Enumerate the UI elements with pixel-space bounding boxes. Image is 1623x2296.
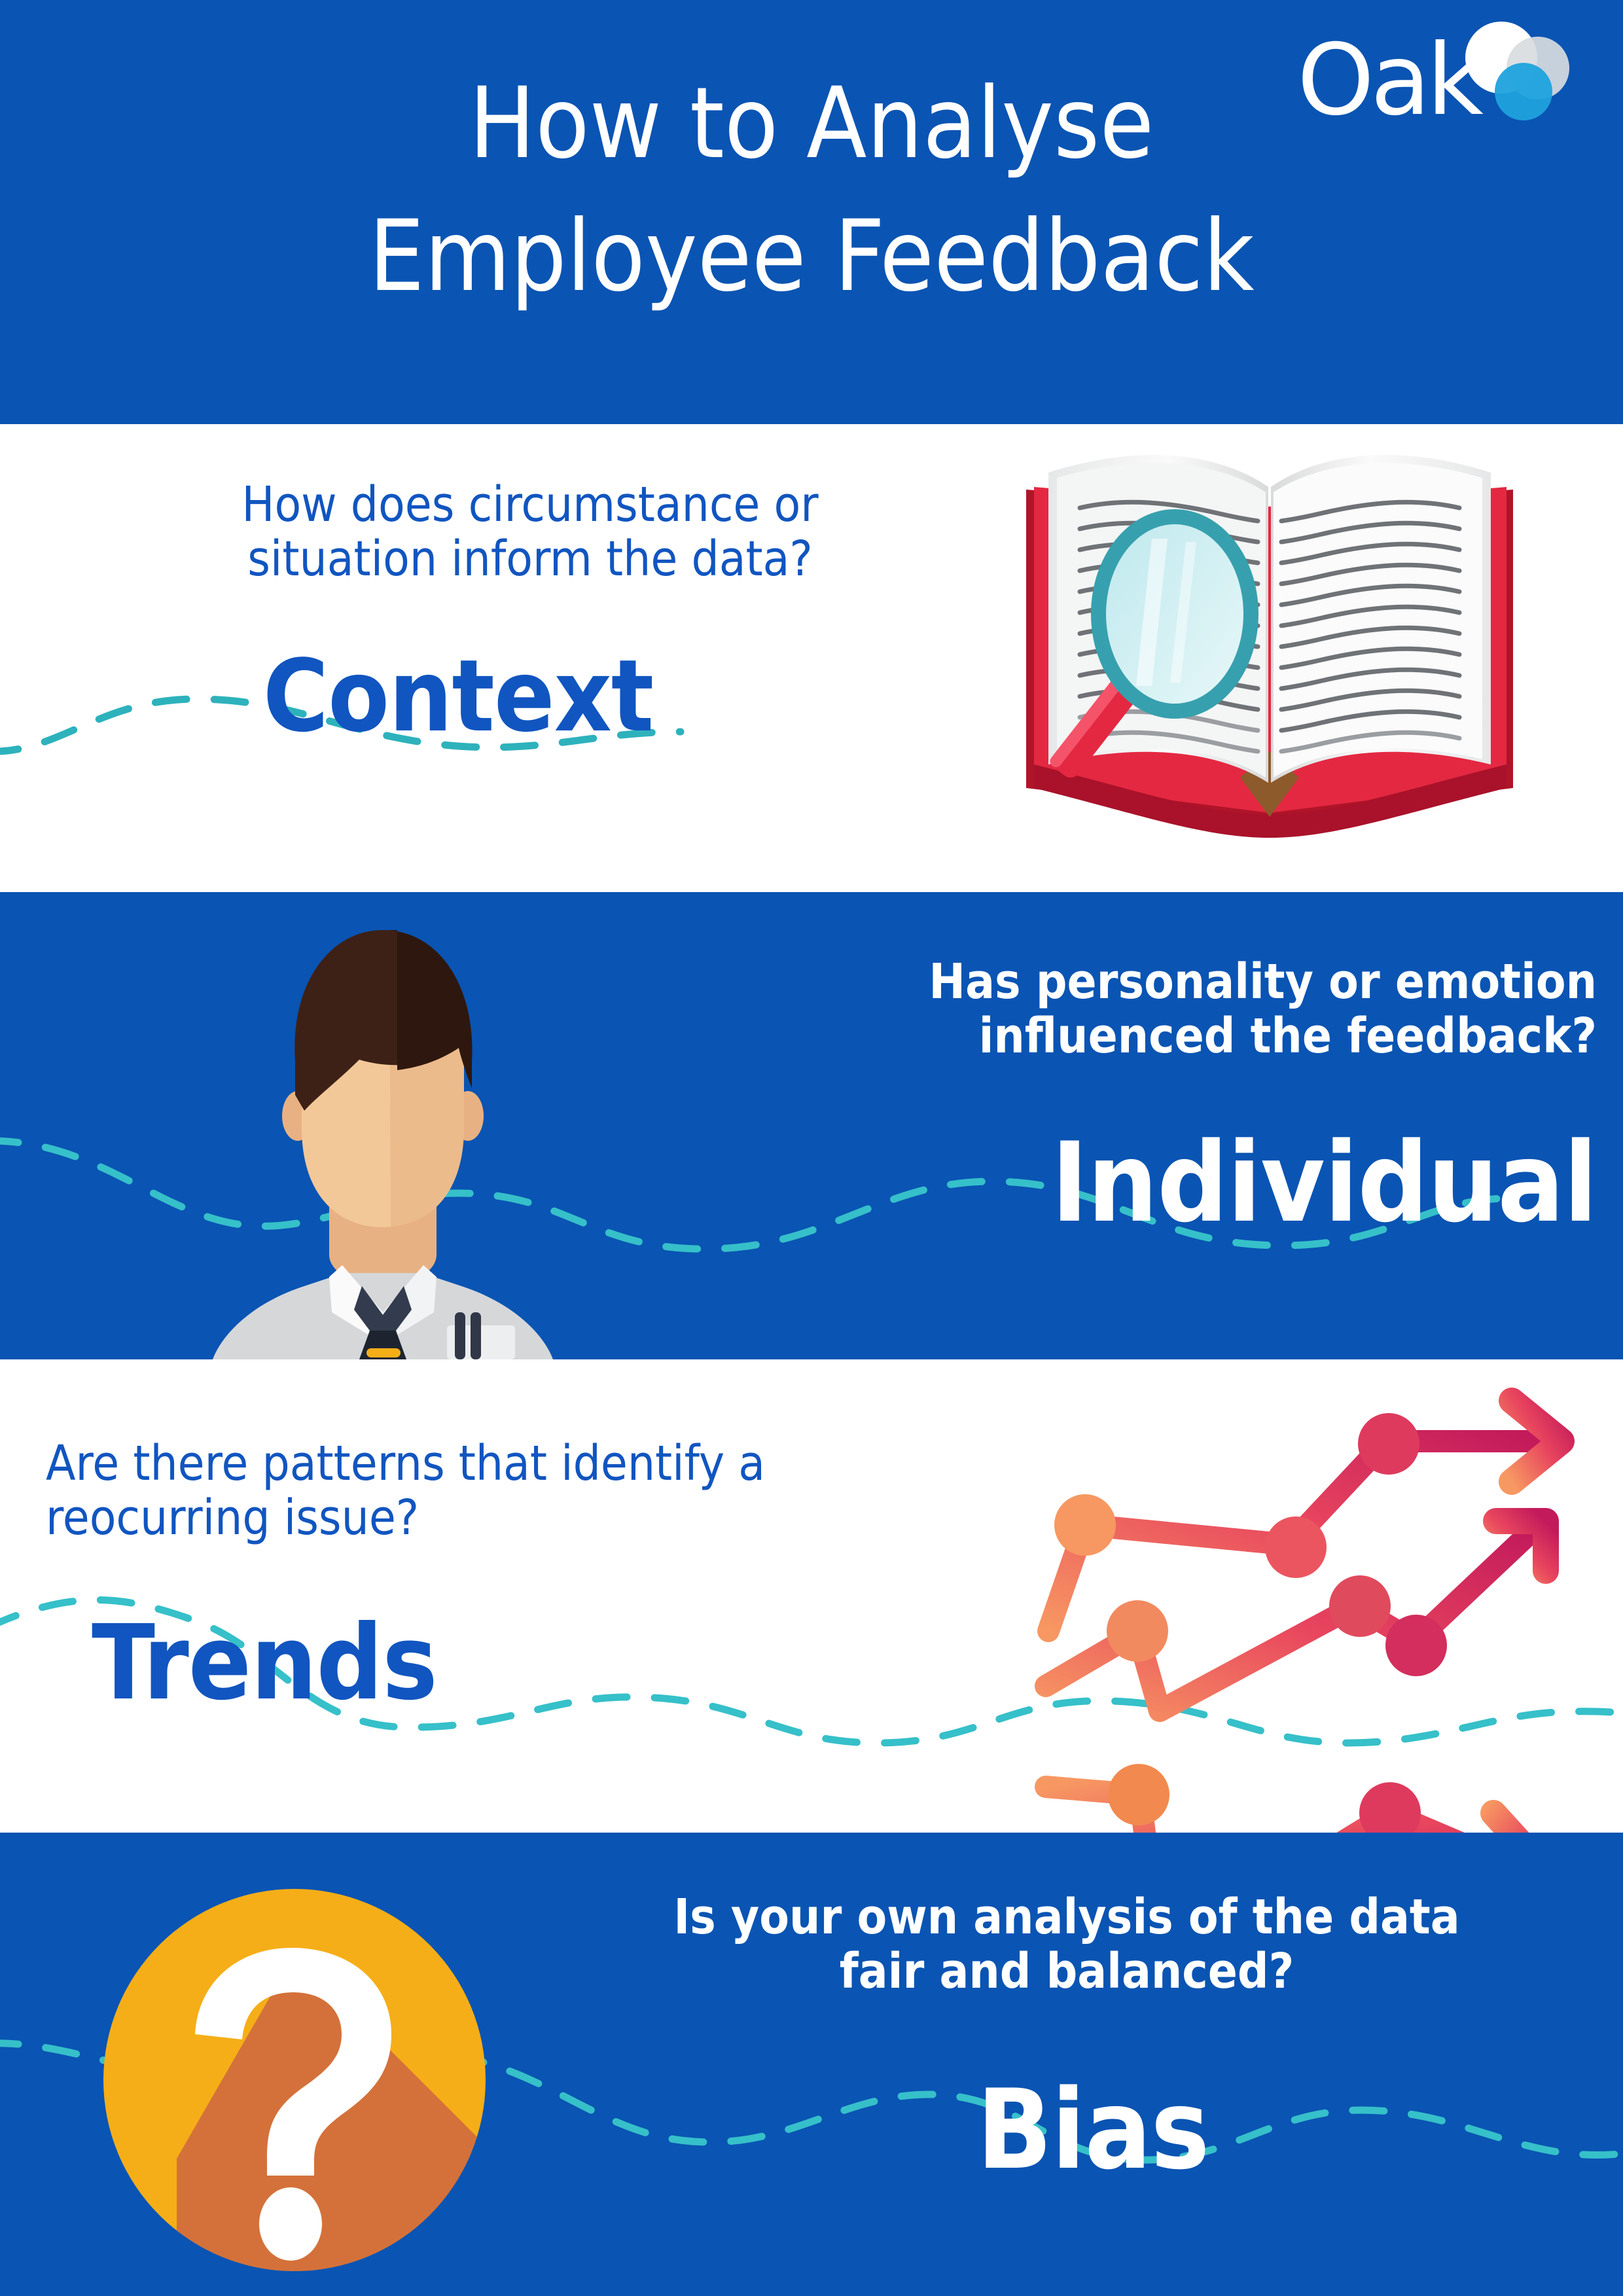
question-line-2: fair and balanced? bbox=[840, 1943, 1294, 2000]
page-title-line-2: Employee Feedback bbox=[0, 190, 1623, 323]
section-question-bias: Is your own analysis of the data fair an… bbox=[537, 1890, 1597, 1999]
trend-arrows-chart-icon bbox=[1014, 1376, 1623, 1833]
section-context: How does circumstance or situation infor… bbox=[0, 424, 1623, 892]
question-line-1: How does circumstance or bbox=[241, 476, 818, 533]
open-book-with-magnifier-icon bbox=[942, 424, 1597, 856]
page-title-line-1: How to Analyse bbox=[0, 58, 1623, 190]
infographic-page: Oak How to Analyse Employee Feedback How… bbox=[0, 0, 1623, 2296]
section-individual: Has personality or emotion influenced th… bbox=[0, 892, 1623, 1359]
question-line-2: influenced the feedback? bbox=[979, 1008, 1597, 1064]
question-line-2: situation inform the data? bbox=[247, 531, 813, 587]
section-keyword-bias: Bias bbox=[589, 2075, 1597, 2185]
businessman-avatar-icon bbox=[173, 920, 592, 1359]
question-line-2: reocurring issue? bbox=[46, 1490, 419, 1546]
section-question-context: How does circumstance or situation infor… bbox=[131, 478, 929, 586]
section-question-individual: Has personality or emotion influenced th… bbox=[668, 955, 1597, 1064]
section-question-trends: Are there patterns that identify a reocu… bbox=[46, 1437, 1027, 1545]
header-banner: Oak How to Analyse Employee Feedback bbox=[0, 0, 1623, 424]
section-trends: Are there patterns that identify a reocu… bbox=[0, 1359, 1623, 1833]
page-title: How to Analyse Employee Feedback bbox=[0, 58, 1623, 323]
question-line-1: Is your own analysis of the data bbox=[673, 1889, 1459, 1945]
section-keyword-individual: Individual bbox=[668, 1128, 1597, 1238]
question-line-1: Are there patterns that identify a bbox=[46, 1435, 765, 1492]
section-keyword-context: Context bbox=[131, 647, 785, 746]
section-bias: Is your own analysis of the data fair an… bbox=[0, 1833, 1623, 2296]
section-keyword-trends: Trends bbox=[92, 1611, 746, 1715]
question-mark-circle-icon bbox=[98, 1884, 582, 2276]
question-line-1: Has personality or emotion bbox=[929, 954, 1597, 1010]
